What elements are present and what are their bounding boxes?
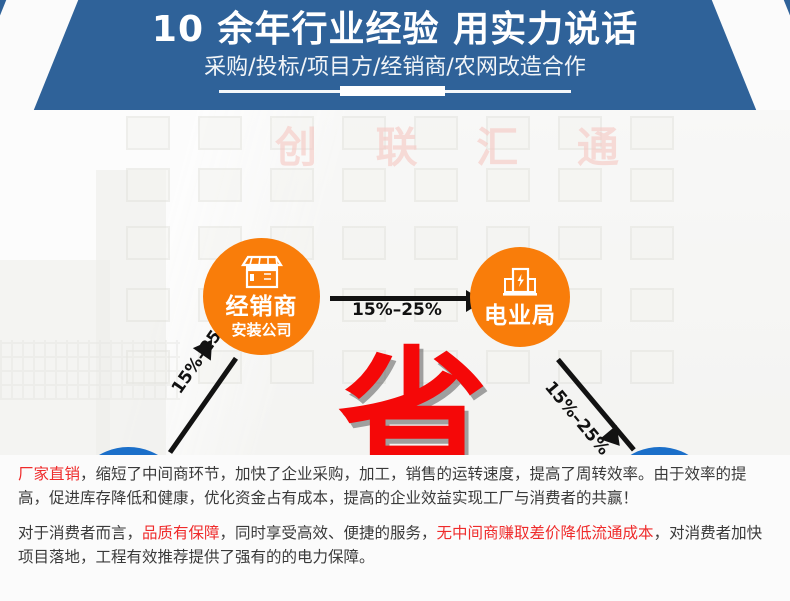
node-dealer-sublabel: 安装公司 (231, 321, 291, 339)
paragraph-one-text: ，缩短了中间商环节，加快了企业采购，加工，销售的运转速度，提高了周转效率。由于效… (18, 465, 747, 507)
paragraph-one: 厂家直销，缩短了中间商环节，加快了企业采购，加工，销售的运转速度，提高了周转效率… (18, 462, 774, 510)
node-dealer[interactable]: 经销商 安装公司 (203, 238, 320, 355)
header-subtitle: 采购/投标/项目方/经销商/农网改造合作 (0, 54, 790, 82)
background-fence (0, 340, 180, 400)
paragraph-two-highlight-1: 品质有保障 (142, 524, 220, 542)
node-dealer-label: 经销商 (226, 295, 298, 320)
paragraph-one-highlight: 厂家直销 (18, 465, 80, 483)
power-building-icon (500, 266, 540, 302)
description-section: 厂家直销，缩短了中间商环节，加快了企业采购，加工，销售的运转速度，提高了周转效率… (0, 455, 790, 601)
infographic-page: 10 余年行业经验 用实力说话 采购/投标/项目方/经销商/农网改造合作 (0, 0, 790, 601)
node-power-label: 电业局 (484, 304, 556, 329)
paragraph-two-text-b: ，同时享受高效、便捷的服务， (220, 524, 437, 542)
paragraph-two-text-a: 对于消费者而言， (18, 524, 142, 542)
brand-watermark: 创 联 汇 通 (275, 114, 595, 175)
header-banner: 10 余年行业经验 用实力说话 采购/投标/项目方/经销商/农网改造合作 (0, 0, 790, 110)
diagram-stage: 创 联 汇 通 15%–25% 15%–25% 15%–25% 在这里省了中间环… (0, 110, 790, 455)
node-power-bureau[interactable]: 电业局 (470, 247, 570, 347)
center-save-glyph: 省 (338, 346, 478, 455)
paragraph-two-highlight-2: 无中间商赚取差价降低流通成本 (437, 524, 654, 542)
storefront-icon (240, 255, 284, 293)
header-title: 10 余年行业经验 用实力说话 (0, 8, 790, 52)
header-divider-block (340, 86, 445, 96)
paragraph-two: 对于消费者而言，品质有保障，同时享受高效、便捷的服务，无中间商赚取差价降低流通成… (18, 521, 774, 569)
arrow-label-top: 15%–25% (352, 300, 442, 320)
